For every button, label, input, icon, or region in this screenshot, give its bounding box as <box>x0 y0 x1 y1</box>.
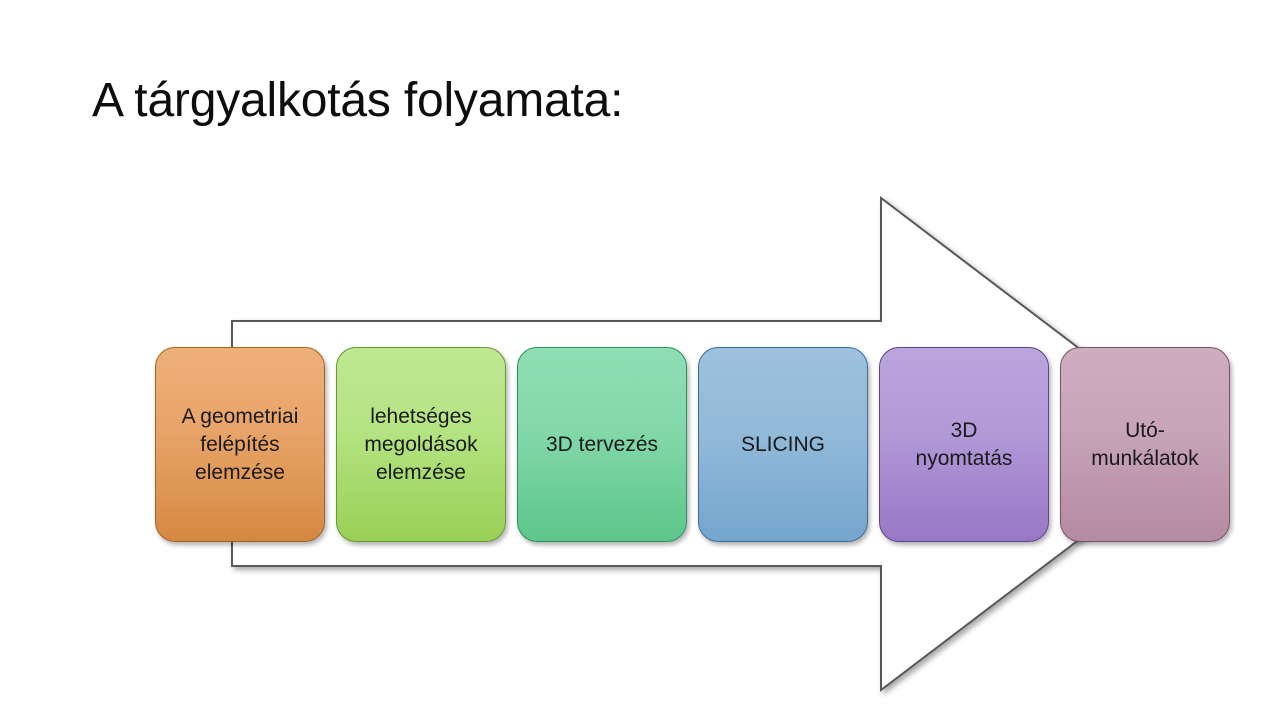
process-step-4[interactable]: SLICING <box>698 347 868 542</box>
process-step-label: lehetséges megoldások elemzése <box>356 403 485 487</box>
process-step-label: SLICING <box>733 431 833 459</box>
process-step-label: A geometriai felépítés elemzése <box>174 403 307 487</box>
slide-canvas: A tárgyalkotás folyamata: A geometriai f… <box>0 0 1280 720</box>
process-step-6[interactable]: Utó- munkálatok <box>1060 347 1230 542</box>
process-step-list: A geometriai felépítés elemzése lehetség… <box>155 347 1205 544</box>
process-step-1[interactable]: A geometriai felépítés elemzése <box>155 347 325 542</box>
process-step-3[interactable]: 3D tervezés <box>517 347 687 542</box>
page-title: A tárgyalkotás folyamata: <box>92 70 623 132</box>
process-step-2[interactable]: lehetséges megoldások elemzése <box>336 347 506 542</box>
process-step-label: Utó- munkálatok <box>1083 417 1206 473</box>
process-step-5[interactable]: 3D nyomtatás <box>879 347 1049 542</box>
process-step-label: 3D nyomtatás <box>908 417 1021 473</box>
process-step-label: 3D tervezés <box>538 431 666 459</box>
